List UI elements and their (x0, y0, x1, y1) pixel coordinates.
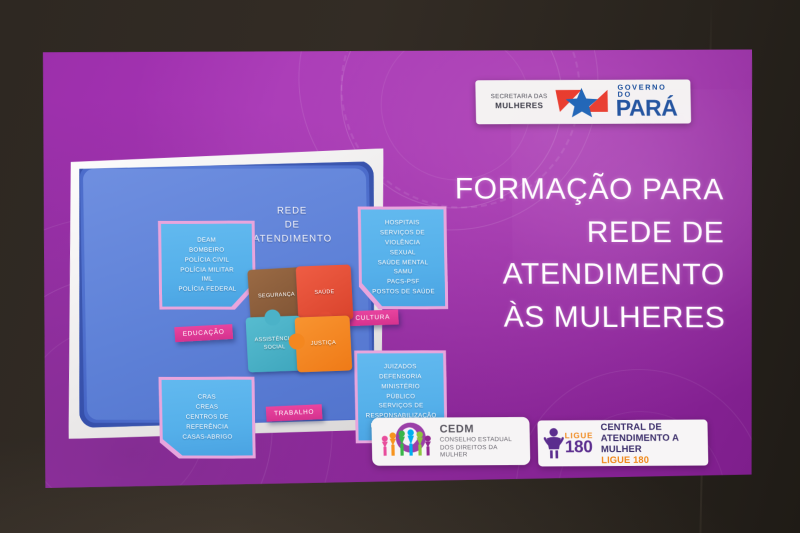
secretaria-line1: SECRETARIA DAS (483, 93, 556, 101)
rede-de-atendimento-diagram: REDE DE ATENDIMENTO DEAM BOMBEIRO POLÍCI… (63, 148, 388, 439)
ligue-line3-accent: LIGUE 180 (601, 454, 649, 465)
diagram-box-seguranca-items: DEAM BOMBEIRO POLÍCIA CIVIL POLÍCIA MILI… (161, 224, 253, 307)
list-item: PÚBLICO (386, 392, 415, 402)
diagram-box-assistencia-social: CRAS CREAS CENTROS DE REFERÊNCIA CASAS-A… (158, 377, 255, 459)
cedm-text: CEDM CONSELHO ESTADUAL DOS DIREITOS DA M… (439, 423, 524, 459)
diagram-box-saude: HOSPITAIS SERVIÇOS DE VIOLÊNCIA SEXUAL S… (358, 206, 449, 309)
ligue-180-woman-icon: LIGUE 180 (544, 425, 597, 461)
list-item: CRAS (198, 393, 216, 403)
diagram-heading-line-1: REDE (239, 204, 344, 218)
list-item: PACS-PSF (387, 278, 420, 288)
title-line-4: ÀS MULHERES (413, 296, 726, 340)
title-line-1: FORMAÇÃO PARA (406, 168, 725, 212)
ligue-180-description: CENTRAL DE ATENDIMENTO A MULHER LIGUE 18… (600, 421, 679, 466)
puzzle-label: SAÚDE (296, 264, 354, 321)
diagram-heading-line-3: ATENDIMENTO (240, 232, 345, 246)
list-item: SAÚDE MENTAL (378, 258, 429, 268)
governo-do-para-logo: SECRETARIA DAS MULHERES GOVERNO DO PARÁ (475, 80, 691, 125)
diagram-box-saude-items: HOSPITAIS SERVIÇOS DE VIOLÊNCIA SEXUAL S… (361, 209, 446, 306)
list-item: JUIZADOS (384, 362, 417, 372)
list-item: SERVIÇOS DE (379, 402, 424, 412)
ligue-line1: CENTRAL DE (600, 421, 678, 433)
ligue-180-logo: LIGUE 180 CENTRAL DE ATENDIMENTO A MULHE… (537, 420, 708, 467)
cedm-logo: CEDM CONSELHO ESTADUAL DOS DIREITOS DA M… (371, 417, 530, 466)
title-line-2: REDE DE (412, 211, 725, 255)
list-item: SAMU (394, 268, 413, 278)
ligue-line3-prefix: MULHER (601, 443, 679, 455)
para-flag-star-icon (555, 86, 612, 118)
ligue-number: 180 (565, 439, 594, 455)
cedm-people-icon (377, 420, 436, 462)
projected-slide: SECRETARIA DAS MULHERES GOVERNO DO PARÁ … (40, 47, 757, 490)
page-title: FORMAÇÃO PARA REDE DE ATENDIMENTO ÀS MUL… (412, 168, 726, 339)
list-item: POLÍCIA MILITAR (180, 265, 234, 275)
diagram-heading-line-2: DE (240, 218, 345, 232)
cedm-acronym: CEDM (439, 423, 523, 437)
list-item: POLÍCIA CIVIL (185, 255, 230, 265)
ligue-line3: MULHER LIGUE 180 (601, 443, 680, 466)
governo-do-para-wordmark: GOVERNO DO PARÁ (615, 83, 684, 120)
list-item: CASAS-ABRIGO (182, 432, 232, 442)
diagram-box-assistencia-items: CRAS CREAS CENTROS DE REFERÊNCIA CASAS-A… (162, 380, 253, 456)
list-item: SEXUAL (390, 248, 416, 258)
list-item: MINISTÉRIO (381, 382, 420, 392)
para-big-text: PARÁ (616, 97, 684, 120)
list-item: IML (202, 275, 213, 285)
list-item: POLÍCIA FEDERAL (178, 285, 236, 295)
puzzle-label: JUSTIÇA (295, 315, 353, 372)
slide-surface: SECRETARIA DAS MULHERES GOVERNO DO PARÁ … (40, 47, 757, 490)
title-line-3: ATENDIMENTO (413, 253, 726, 297)
ligue-line2: ATENDIMENTO A (601, 432, 679, 444)
ligue-number-block: LIGUE 180 (565, 432, 594, 455)
diagram-box-seguranca: DEAM BOMBEIRO POLÍCIA CIVIL POLÍCIA MILI… (158, 221, 257, 310)
list-item: DEAM (197, 236, 216, 246)
puzzle-piece-justica: JUSTIÇA (295, 315, 353, 372)
list-item: DEFENSORIA (379, 372, 422, 382)
list-item: CREAS (196, 403, 219, 413)
diagram-tag-educacao: EDUCAÇÃO (174, 324, 233, 342)
puzzle-graphic: SEGURANÇA SAÚDE ASSISTÊNCIA SOCIAL JUSTI… (247, 268, 359, 378)
diagram-heading: REDE DE ATENDIMENTO (239, 204, 345, 246)
list-item: BOMBEIRO (189, 245, 224, 255)
list-item: HOSPITAIS (385, 218, 420, 228)
puzzle-piece-saude: SAÚDE (296, 264, 354, 321)
secretaria-das-mulheres-text: SECRETARIA DAS MULHERES (483, 93, 556, 111)
list-item: CENTROS DE (186, 413, 229, 423)
secretaria-line2: MULHERES (483, 101, 556, 111)
list-item: VIOLÊNCIA (385, 238, 420, 248)
list-item: REFERÊNCIA (186, 423, 228, 433)
list-item: POSTOS DE SAÚDE (372, 287, 435, 297)
cedm-line1: CONSELHO ESTADUAL (440, 436, 524, 444)
cedm-line2: DOS DIREITOS DA MULHER (440, 444, 524, 459)
list-item: SERVIÇOS DE (380, 228, 425, 238)
diagram-tag-trabalho: TRABALHO (266, 404, 323, 422)
